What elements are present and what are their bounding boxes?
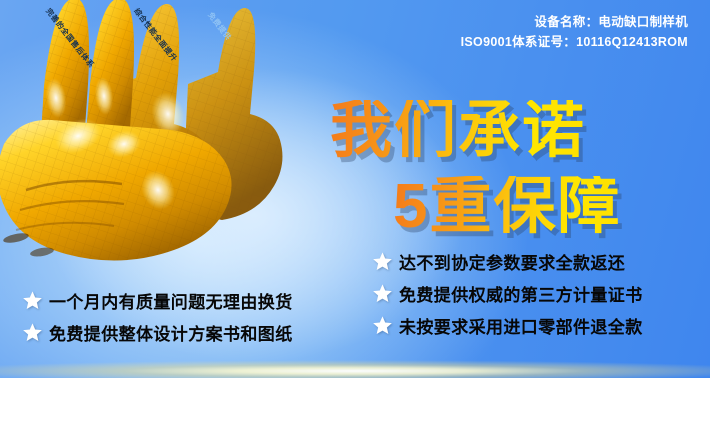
list-item-label: 免费提供整体设计方案书和图纸 xyxy=(49,320,293,345)
headline-line-2: 5重保障 xyxy=(393,176,621,238)
promise-list-right: 达不到协定参数要求全款返还 免费提供权威的第三方计量证书 未按要求采用进口零部件… xyxy=(372,249,643,345)
list-item-label: 免费提供权威的第三方计量证书 xyxy=(399,281,643,306)
list-item: 达不到协定参数要求全款返还 xyxy=(372,249,643,274)
star-icon xyxy=(372,283,393,304)
list-item: 免费提供整体设计方案书和图纸 xyxy=(22,320,293,345)
promise-list-left: 一个月内有质量问题无理由换货 免费提供整体设计方案书和图纸 xyxy=(22,288,293,352)
headline-line-1: 我们承诺 xyxy=(330,100,586,162)
list-item-label: 达不到协定参数要求全款返还 xyxy=(399,249,625,274)
equipment-name-line: 设备名称：电动缺口制样机 xyxy=(534,11,688,30)
star-icon xyxy=(22,290,43,311)
list-item: 免费提供权威的第三方计量证书 xyxy=(372,281,643,306)
list-item: 未按要求采用进口零部件退全款 xyxy=(372,313,643,338)
star-icon xyxy=(372,251,393,272)
list-item-label: 未按要求采用进口零部件退全款 xyxy=(399,313,643,338)
footer: ZH-QK 系列 电动缺口制样机 xyxy=(0,378,710,440)
list-item-label: 一个月内有质量问题无理由换货 xyxy=(49,288,293,313)
star-icon xyxy=(22,322,43,343)
iso-certificate-line: ISO9001体系证号：10116Q12413ROM xyxy=(461,31,688,50)
star-icon xyxy=(372,315,393,336)
list-item: 一个月内有质量问题无理由换货 xyxy=(22,288,293,313)
promotional-banner: 完善的全国售后体系 综合性能全面提升 免费提供 设备名称：电动缺口制样机 ISO… xyxy=(0,0,710,440)
